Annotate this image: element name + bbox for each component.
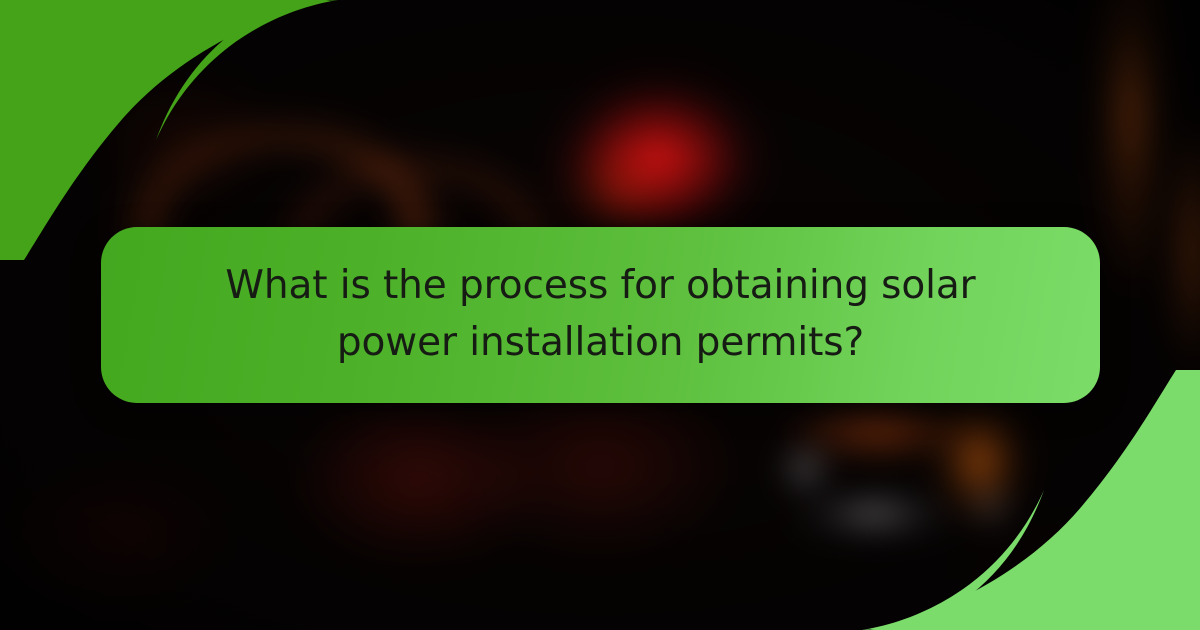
- social-share-card: What is the process for obtaining solar …: [0, 0, 1200, 630]
- question-text: What is the process for obtaining solar …: [201, 258, 1001, 371]
- question-banner: What is the process for obtaining solar …: [101, 227, 1100, 403]
